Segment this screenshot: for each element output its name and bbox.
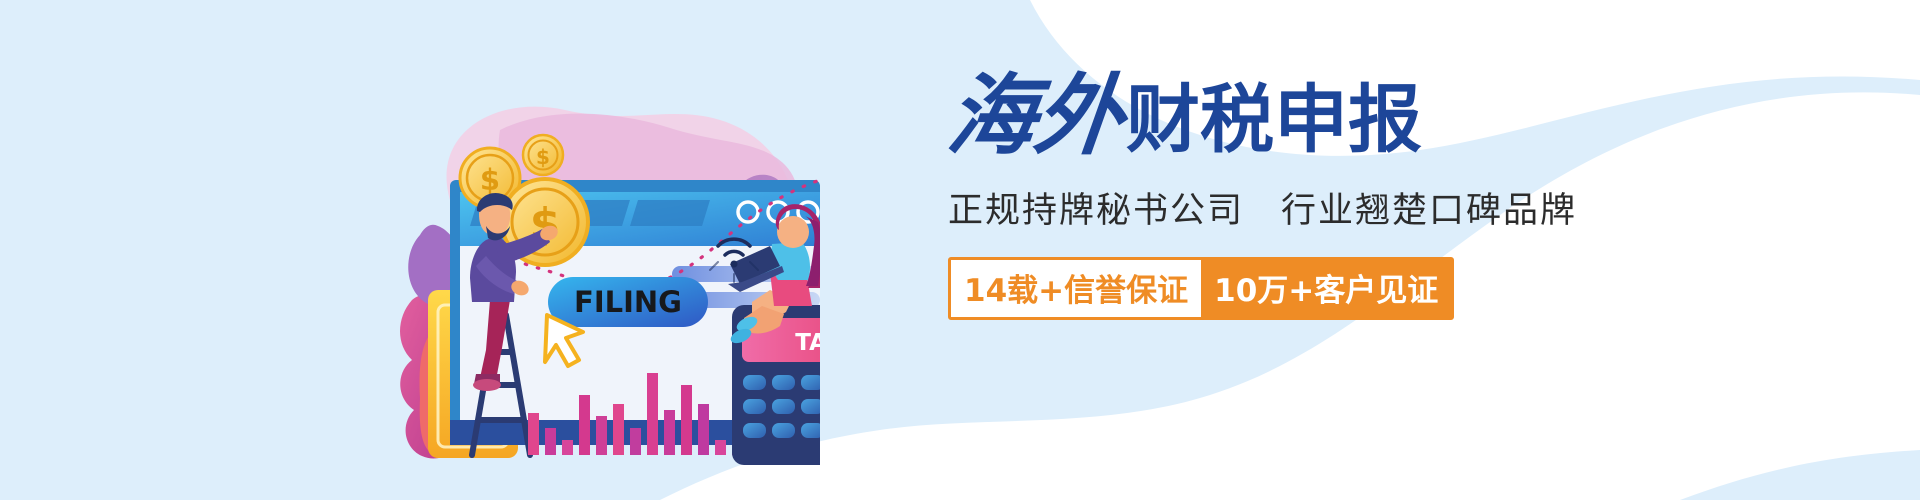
copy-block: 海外 财税申报 正规持牌秘书公司 行业翘楚口碑品牌 14载+信誉保证 10万+客… xyxy=(948,72,1588,320)
subtitle: 正规持牌秘书公司 行业翘楚口碑品牌 xyxy=(948,182,1588,233)
headline-part-a: 海外 xyxy=(943,72,1126,160)
badge-customers: 10万+客户见证 xyxy=(1201,260,1451,317)
coin-symbol: $ xyxy=(480,163,500,197)
headline: 海外 财税申报 xyxy=(948,72,1588,160)
calculator-label: TAX xyxy=(795,330,820,356)
filing-button: FILING xyxy=(548,277,708,327)
headline-part-b: 财税申报 xyxy=(1126,83,1422,157)
badge-experience: 14载+信誉保证 xyxy=(951,260,1201,317)
promo-banner: FILING $ $ $ xyxy=(0,0,1920,500)
filing-button-label: FILING xyxy=(574,285,682,319)
coin-symbol: $ xyxy=(536,145,550,169)
tax-filing-illustration: FILING $ $ $ xyxy=(300,0,820,500)
badge-group: 14载+信誉保证 10万+客户见证 xyxy=(948,257,1454,320)
